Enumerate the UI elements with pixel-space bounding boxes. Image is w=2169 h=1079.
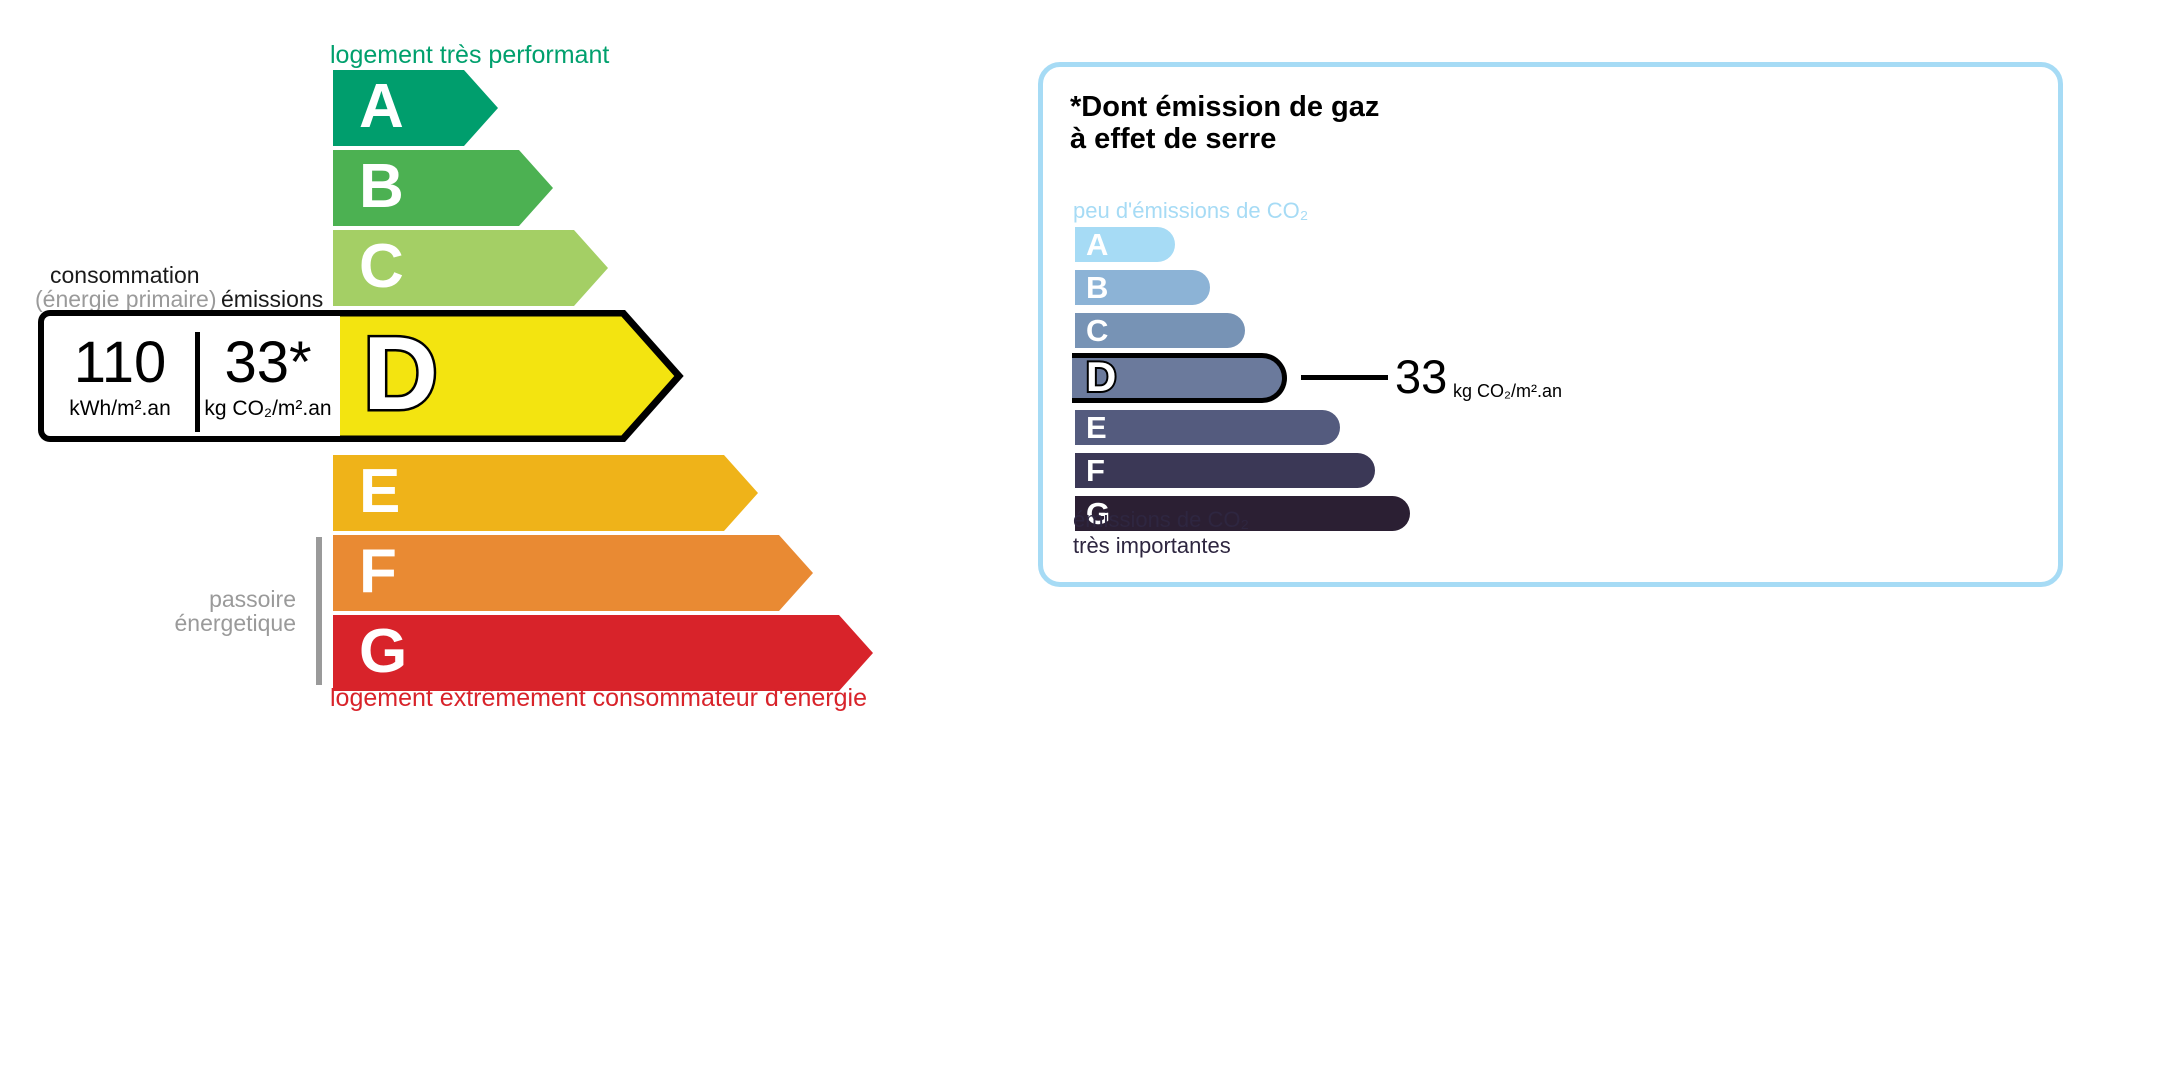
- emissions-value: 33*: [224, 334, 311, 392]
- energy-band-letter: A: [359, 76, 404, 138]
- band-arrow-f: [333, 535, 813, 611]
- co2-bar-letter: A: [1086, 228, 1108, 259]
- consumption-value: 110: [74, 334, 166, 392]
- co2-bar-e[interactable]: E: [1075, 410, 1340, 445]
- energy-band-letter: D: [363, 322, 438, 426]
- band-arrow-a: [333, 70, 498, 146]
- energy-bottom-caption: logement extrêmement consommateur d'éner…: [330, 684, 867, 713]
- emissions-unit: kg CO₂/m².an: [204, 398, 331, 419]
- co2-bar-letter: B: [1086, 271, 1108, 302]
- energy-band-letter: F: [359, 541, 397, 603]
- co2-bar-a[interactable]: A: [1075, 227, 1175, 262]
- co2-bar-letter: D: [1086, 356, 1116, 398]
- co2-bar-b[interactable]: B: [1075, 270, 1210, 305]
- passoire-label-line2: énergetique: [108, 610, 296, 637]
- co2-bar-letter: C: [1086, 314, 1108, 345]
- energy-value-box: 110 kWh/m².an 33* kg CO₂/m².an: [38, 310, 340, 442]
- co2-bar-letter: E: [1086, 411, 1107, 442]
- energy-top-caption: logement très performant: [330, 41, 609, 70]
- consumption-label-line2: (énergie primaire): [35, 286, 217, 313]
- consumption-cell: 110 kWh/m².an: [44, 316, 196, 436]
- co2-top-caption: peu d'émissions de CO₂: [1073, 198, 1308, 224]
- band-arrow-g: [333, 615, 873, 691]
- energy-band-letter: B: [359, 156, 404, 218]
- energy-band-letter: G: [359, 621, 407, 683]
- energy-band-letter: C: [359, 236, 404, 298]
- passoire-bracket: [316, 537, 322, 685]
- co2-callout-value: 33: [1395, 353, 1447, 400]
- emissions-cell: 33* kg CO₂/m².an: [196, 316, 340, 436]
- co2-bottom-caption: émissions de CO₂ très importantes: [1073, 507, 1249, 559]
- co2-emissions-panel: *Dont émission de gaz à effet de serre p…: [1038, 62, 2063, 587]
- co2-bar-c[interactable]: C: [1075, 313, 1245, 348]
- co2-callout-leader-line: [1301, 375, 1388, 380]
- co2-bar-f[interactable]: F: [1075, 453, 1375, 488]
- co2-bar-letter: F: [1086, 454, 1105, 485]
- consumption-unit: kWh/m².an: [69, 398, 171, 419]
- emissions-label: émissions: [221, 286, 323, 313]
- co2-panel-title: *Dont émission de gaz à effet de serre: [1070, 91, 1379, 156]
- energy-band-letter: E: [359, 461, 400, 523]
- co2-bar-d-selected[interactable]: D: [1072, 353, 1287, 403]
- passoire-label-line1: passoire: [128, 586, 296, 613]
- co2-callout-unit: kg CO₂/m².an: [1453, 382, 1562, 400]
- consumption-label-line1: consommation: [50, 262, 200, 289]
